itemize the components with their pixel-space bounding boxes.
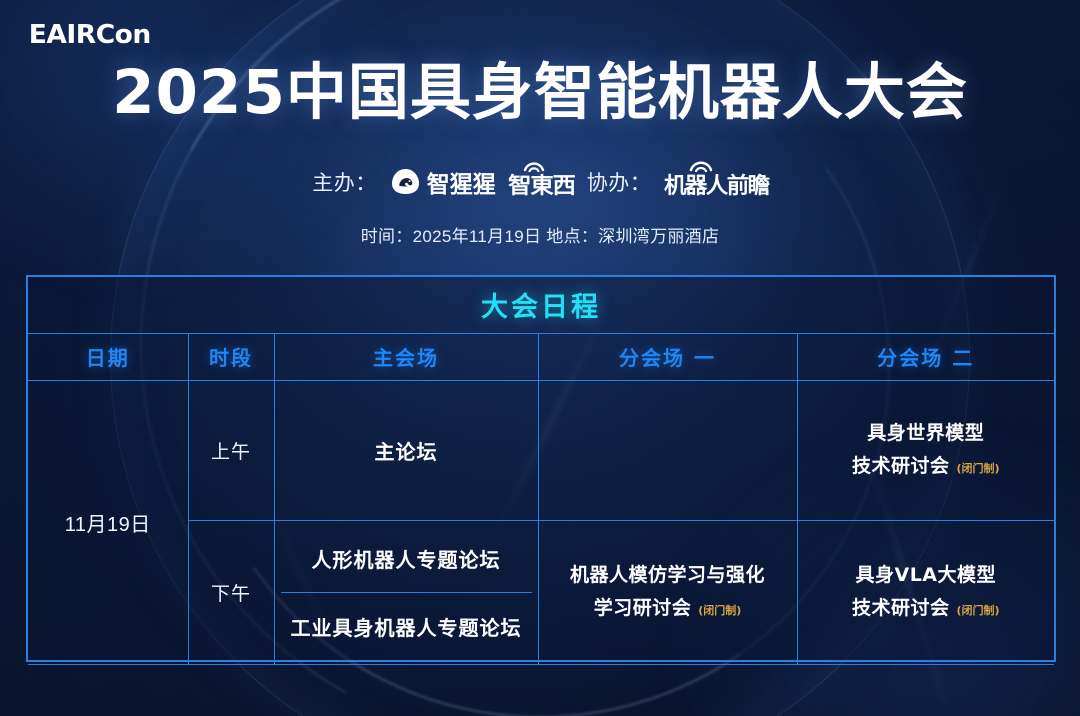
organizer-name: 智東西 [508, 168, 575, 200]
table-header-row: 日期 时段 主会场 分会场 一 分会场 二 [28, 333, 1054, 380]
session-title-line1: 具身世界模型 [804, 417, 1049, 450]
cell-slot-morning: 上午 [188, 380, 274, 520]
column-header-date: 日期 [28, 333, 188, 380]
cell-slot-afternoon: 下午 [188, 520, 274, 664]
session-title-line2: 学习研讨会(闭门制) [545, 592, 791, 625]
column-header-sub1: 分会场 一 [538, 333, 797, 380]
session-title-line2: 技术研讨会(闭门制) [804, 450, 1049, 483]
organizer-row: 主办： 智猩猩 智東西 协办： 机器人前瞻 [0, 163, 1080, 200]
brand-logo: EAIRCon [30, 20, 150, 50]
ape-head-badge-icon [391, 168, 420, 195]
session-title-line2: 技术研讨会(闭门制) [804, 592, 1049, 625]
host-label: 主办： [312, 167, 377, 197]
cell-sub2-afternoon: 具身VLA大模型 技术研讨会(闭门制) [797, 520, 1054, 664]
session-title-line1: 具身VLA大模型 [804, 559, 1049, 592]
session-industrial-forum: 工业具身机器人专题论坛 [281, 593, 532, 660]
session-humanoid-forum: 人形机器人专题论坛 [281, 525, 532, 593]
table-row: 11月19日 上午 主论坛 具身世界模型 技术研讨会(闭门制) [28, 380, 1054, 520]
organizer-name: 智猩猩 [427, 165, 496, 199]
column-header-main: 主会场 [274, 333, 538, 380]
session-title-text: 学习研讨会 [594, 597, 692, 619]
closed-door-badge: (闭门制) [957, 462, 1000, 475]
organizer-logo-zhixingxing: 智猩猩 [391, 165, 496, 199]
column-header-slot: 时段 [188, 333, 274, 380]
session-title-line1: 机器人模仿学习与强化 [545, 559, 791, 592]
poster-canvas: EAIRCon 2025中国具身智能机器人大会 主办： 智猩猩 智東西 协办： [0, 0, 1080, 716]
column-header-sub2: 分会场 二 [797, 333, 1054, 380]
table-title-row: 大会日程 [28, 277, 1054, 333]
cell-main-afternoon: 人形机器人专题论坛 工业具身机器人专题论坛 [274, 520, 538, 664]
cell-main-morning: 主论坛 [274, 380, 538, 520]
organizer-logo-jiqirenqianzhan: 机器人前瞻 [665, 163, 768, 200]
session-title-text: 技术研讨会 [852, 455, 950, 477]
closed-door-badge: (闭门制) [957, 604, 1000, 617]
eaircon-wordmark-icon: EAIRCon [29, 20, 151, 50]
cell-date: 11月19日 [28, 380, 188, 664]
cell-sub2-morning: 具身世界模型 技术研讨会(闭门制) [797, 380, 1054, 520]
schedule-title: 大会日程 [28, 277, 1054, 333]
cell-sub1-afternoon: 机器人模仿学习与强化 学习研讨会(闭门制) [538, 520, 797, 664]
page-title: 2025中国具身智能机器人大会 [0, 62, 1080, 123]
cell-sub1-morning [538, 380, 797, 520]
closed-door-badge: (闭门制) [698, 604, 741, 617]
organizer-name: 机器人前瞻 [664, 168, 769, 200]
schedule-table: 大会日程 日期 时段 主会场 分会场 一 分会场 二 11月19日 上午 主论坛… [26, 275, 1056, 662]
organizer-logo-zhidongxi: 智東西 [510, 163, 573, 200]
session-title-text: 技术研讨会 [852, 597, 950, 619]
event-meta: 时间：2025年11月19日 地点：深圳湾万丽酒店 [0, 222, 1080, 247]
cohost-label: 协办： [587, 167, 652, 197]
